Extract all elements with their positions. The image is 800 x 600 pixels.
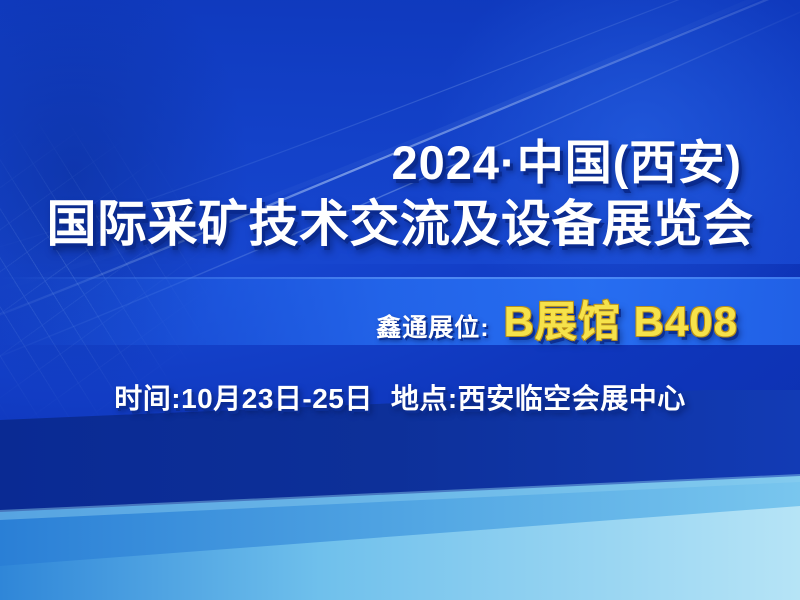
event-place: 地点:西安临空会展中心 bbox=[391, 383, 686, 414]
booth-label: 鑫通展位: bbox=[376, 308, 489, 344]
decorative-bottom-ribbons bbox=[0, 390, 800, 600]
event-time: 时间:10月23日-25日 bbox=[114, 383, 373, 414]
booth-band-top-edge bbox=[0, 277, 800, 279]
exhibition-poster: 2024·中国(西安) 国际采矿技术交流及设备展览会 鑫通展位: B展馆 B40… bbox=[0, 0, 800, 600]
poster-title-line-2: 国际采矿技术交流及设备展览会 bbox=[47, 184, 754, 256]
poster-title-line-1: 2024·中国(西安) bbox=[391, 124, 742, 193]
booth-info-row: 鑫通展位: B展馆 B408 bbox=[376, 288, 738, 349]
booth-number: B展馆 B408 bbox=[504, 288, 738, 349]
event-meta-row: 时间:10月23日-25日地点:西安临空会展中心 bbox=[114, 377, 685, 417]
